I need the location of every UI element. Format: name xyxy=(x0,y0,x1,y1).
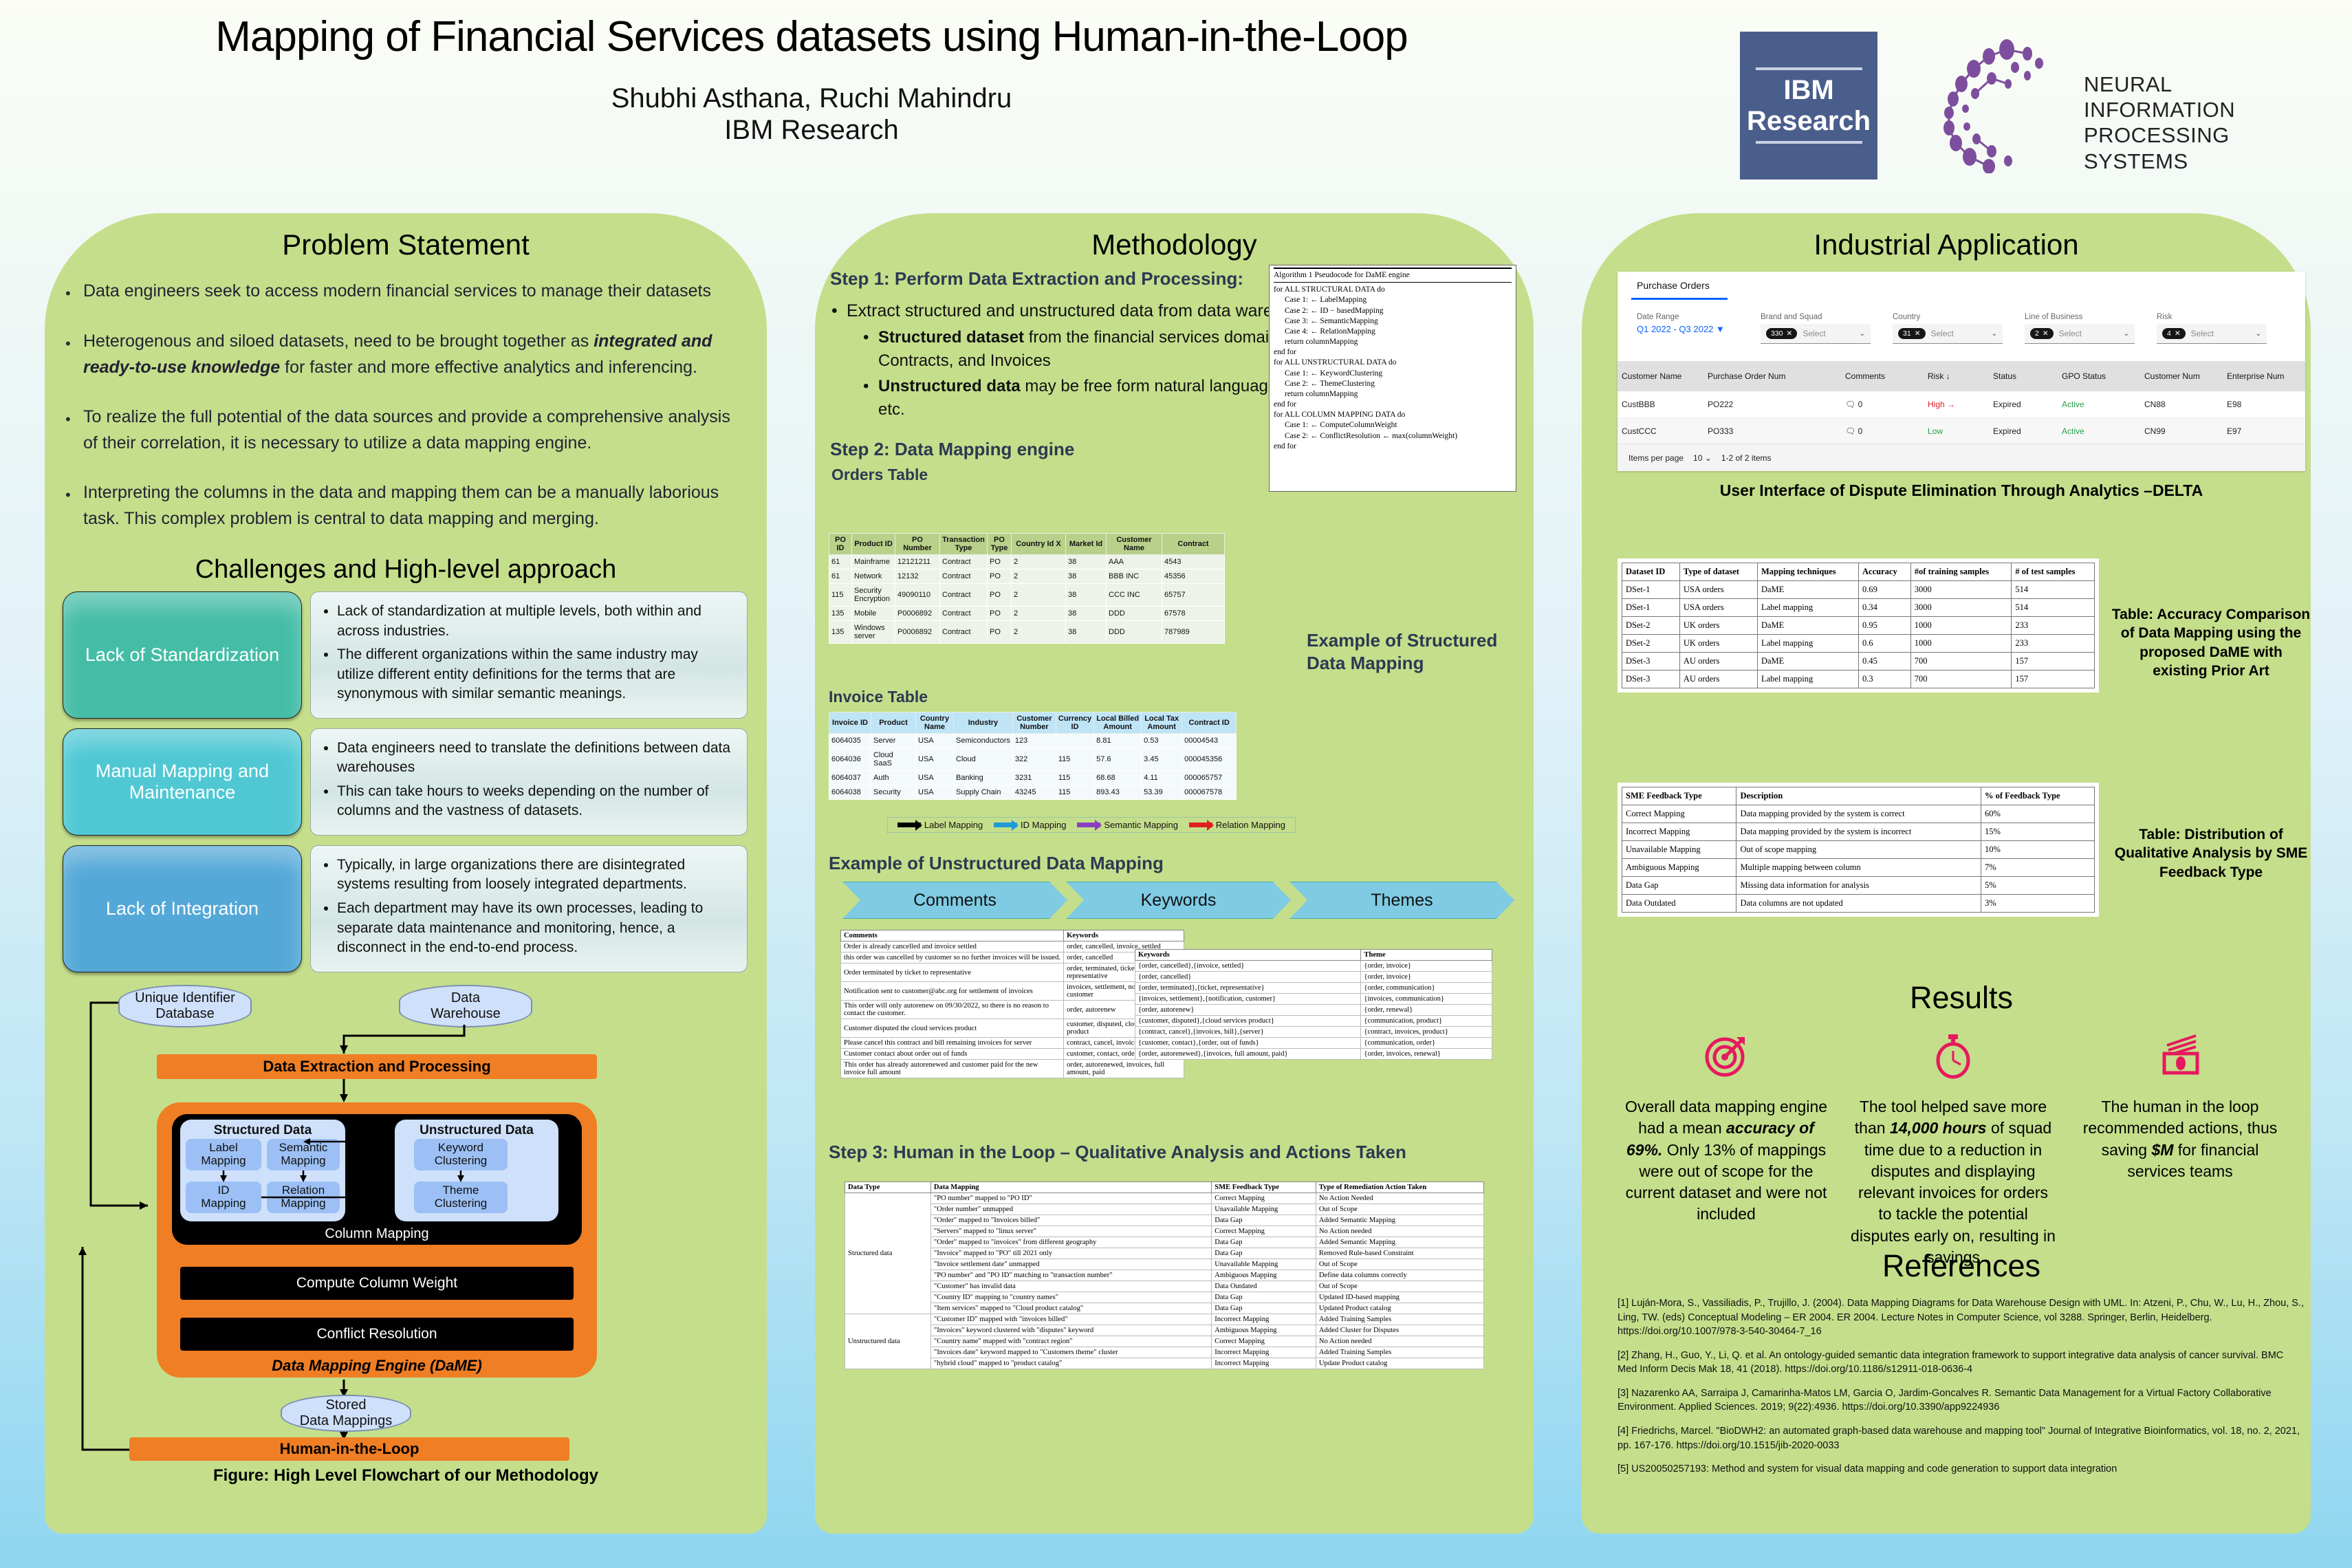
unstructured-pipeline-chevrons: CommentsKeywordsThemes xyxy=(842,882,1496,917)
selected-count-pill[interactable]: 31 ✕ xyxy=(1898,328,1926,339)
filter-control[interactable]: 2 ✕ Select ⌄ xyxy=(2025,324,2135,344)
table-cell: Data Gap xyxy=(1212,1303,1316,1314)
table-row: {order, autorenewed},{invoices, full amo… xyxy=(1135,1049,1492,1060)
table-cell: Incorrect Mapping xyxy=(1212,1314,1316,1325)
table-cell: 893.43 xyxy=(1094,785,1142,800)
table-cell: Unavailable Mapping xyxy=(1622,841,1736,859)
orders-table: PO IDProduct IDPO NumberTransaction Type… xyxy=(829,533,1225,644)
table-cell: 3.45 xyxy=(1142,748,1182,771)
table-row: "hybrid cloud" mapped to "product catalo… xyxy=(845,1358,1484,1369)
cell-enterprise-num: E98 xyxy=(2223,400,2305,409)
challenge-badge-2: Lack of Integration xyxy=(63,845,302,972)
table-row: DSet-1USA ordersDaME0.693000514 xyxy=(1622,581,2095,599)
table-cell: 2 xyxy=(1012,555,1066,569)
table-cell: Mainframe xyxy=(852,555,895,569)
table-row: Customer disputed the cloud services pro… xyxy=(841,1019,1184,1038)
table-cell: Missing data information for analysis xyxy=(1736,877,1981,895)
table-row: 6064036Cloud SaaSUSACloud32211557.63.450… xyxy=(829,748,1237,771)
table-cell: "Order number" unmapped xyxy=(930,1204,1211,1215)
chevron-down-icon[interactable]: ⌄ xyxy=(2256,330,2261,338)
table-cell: Correct Mapping xyxy=(1212,1226,1316,1237)
table-cell: 2 xyxy=(1012,607,1066,621)
table-cell: 000067578 xyxy=(1182,785,1237,800)
table-cell: Security xyxy=(871,785,916,800)
flow-node-stored-mappings: Stored Data Mappings xyxy=(281,1395,411,1432)
table-cell: {communication, order} xyxy=(1361,1038,1492,1049)
filter-control[interactable]: 31 ✕ Select ⌄ xyxy=(1893,324,2003,344)
table-cell: "PO number" mapped to "PO ID" xyxy=(930,1193,1211,1204)
bullet-dot: • xyxy=(65,278,83,305)
table-row: DSet-2UK ordersDaME0.951000233 xyxy=(1622,617,2095,635)
table-cell: Contract xyxy=(940,555,988,569)
table-cell: 6064035 xyxy=(829,734,871,748)
logo-rule-top xyxy=(1756,67,1862,70)
filter-risk[interactable]: Risk 4 ✕ Select ⌄ xyxy=(2157,313,2267,344)
algorithm-line: Case 1: ← KeywordClustering xyxy=(1274,369,1512,379)
column-header: Invoice ID xyxy=(829,712,871,734)
table-cell: {order, terminated},{ticket, representat… xyxy=(1135,983,1361,994)
filter-line-of-business[interactable]: Line of Business 2 ✕ Select ⌄ xyxy=(2025,313,2135,344)
table-cell: "Country name" mapped with "contract reg… xyxy=(930,1336,1211,1347)
column-header: Country Name xyxy=(916,712,954,734)
table-cell: {order, autorenewed},{invoices, full amo… xyxy=(1135,1049,1361,1060)
table-cell: "Item services" mapped to "Cloud product… xyxy=(930,1303,1211,1314)
table-header-row: PO IDProduct IDPO NumberTransaction Type… xyxy=(829,534,1225,555)
flow-node-theme-clustering: Theme Clustering xyxy=(414,1182,508,1213)
chevron-down-icon[interactable]: ⌄ xyxy=(2124,330,2129,338)
filter-control[interactable]: 330 ✕ Select ⌄ xyxy=(1761,324,1871,344)
algorithm-line: Case 1: ← LabelMapping xyxy=(1274,295,1512,305)
challenge-row: Lack of Integration Typically, in large … xyxy=(63,845,748,972)
flow-node-compute-column-weight: Compute Column Weight xyxy=(180,1267,574,1300)
table-cell: "Customer" has invalid data xyxy=(930,1281,1211,1292)
table-cell: 7% xyxy=(1981,859,2094,877)
column-header: Local Tax Amount xyxy=(1142,712,1182,734)
table-cell: Unavailable Mapping xyxy=(1212,1204,1316,1215)
table-cell: Data Outdated xyxy=(1622,895,1736,913)
table-cell: 5% xyxy=(1981,877,2094,895)
table-cell: 233 xyxy=(2012,617,2095,635)
invoice-table: Invoice IDProductCountry NameIndustryCus… xyxy=(829,712,1237,800)
reference-item: [4] Friedrichs, Marcel. "BioDWH2: an aut… xyxy=(1618,1424,2305,1452)
table-cell: DSet-3 xyxy=(1622,671,1680,688)
table-cell: This order has already autorenewed and c… xyxy=(841,1060,1064,1078)
table-cell: Network xyxy=(852,569,895,584)
cell-comments[interactable]: 🗨 0 xyxy=(1841,426,1924,436)
table-row: {order, terminated},{ticket, representat… xyxy=(1135,983,1492,994)
problem-bullet: • Data engineers seek to access modern f… xyxy=(65,278,749,305)
table-cell: AAA xyxy=(1107,555,1162,569)
bullet-dot: • xyxy=(65,404,83,456)
table-cell: Updated ID-based mapping xyxy=(1316,1292,1483,1303)
accuracy-comparison-table: Dataset IDType of datasetMapping techniq… xyxy=(1622,563,2095,688)
table-row: {customer, disputed},{cloud services pro… xyxy=(1135,1016,1492,1027)
result-card-0: Overall data mapping engine had a mean a… xyxy=(1623,1025,1829,1226)
close-icon[interactable]: ✕ xyxy=(1787,329,1793,338)
table-cell: 3000 xyxy=(1910,599,2012,617)
selected-count-pill[interactable]: 2 ✕ xyxy=(2030,328,2054,339)
step3-heading: Step 3: Human in the Loop – Qualitative … xyxy=(829,1142,1406,1163)
table-row: this order was cancelled by customer so … xyxy=(841,952,1184,963)
cell-risk: Low xyxy=(1924,426,1989,436)
close-icon[interactable]: ✕ xyxy=(2043,329,2049,338)
algorithm-line: Case 2: ← ConflictResolution ← max(colum… xyxy=(1274,431,1512,442)
challenge-point: This can take hours to weeks depending o… xyxy=(337,782,734,821)
table-cell: {invoices, communication} xyxy=(1361,994,1492,1005)
table-row: 135Windows serverP0006892ContractPO238DD… xyxy=(829,621,1225,644)
table-row: Customer contact about order out of fund… xyxy=(841,1049,1184,1060)
table-row: This order has already autorenewed and c… xyxy=(841,1060,1184,1078)
table-row: Please cancel this contract and bill rem… xyxy=(841,1038,1184,1049)
table-cell: {contract, cancel},{invoices, bill},{ser… xyxy=(1135,1027,1361,1038)
column-header[interactable]: Enterprise Num xyxy=(2223,371,2305,381)
author-names: Shubhi Asthana, Ruchi Mahindru xyxy=(62,83,1561,114)
table-cell: Incorrect Mapping xyxy=(1212,1358,1316,1369)
column-header[interactable]: Comments xyxy=(1841,371,1924,381)
column-header[interactable]: GPO Status xyxy=(2058,371,2140,381)
table-cell: "Servers" mapped to "linux server" xyxy=(930,1226,1211,1237)
cell-customer-num: CN99 xyxy=(2140,426,2223,436)
table-row: "Invoice settlement date" unmappedUnavai… xyxy=(845,1259,1484,1270)
comment-icon: 🗨 xyxy=(1845,400,1855,409)
table-cell: Data mapping provided by the system is i… xyxy=(1736,823,1981,841)
table-cell: 45356 xyxy=(1162,569,1225,584)
table-cell: Data Gap xyxy=(1622,877,1736,895)
table-cell: 00004543 xyxy=(1182,734,1237,748)
page-title: Mapping of Financial Services datasets u… xyxy=(62,12,1561,61)
keywords-themes-table-wrapper: KeywordsTheme{order, cancelled},{invoice… xyxy=(1135,949,1492,1060)
flow-node-data-extraction: Data Extraction and Processing xyxy=(157,1054,597,1079)
table-row: "Order" mapped to "Invoices billed"Data … xyxy=(845,1215,1484,1226)
table-cell: 67578 xyxy=(1162,607,1225,621)
close-icon[interactable]: ✕ xyxy=(1915,329,1921,338)
neurips-wordmark: NEURAL INFORMATION PROCESSING SYSTEMS xyxy=(2084,72,2311,174)
legend-label: Semantic Mapping xyxy=(1104,820,1178,830)
result-text: The tool helped save more than 14,000 ho… xyxy=(1850,1096,2056,1268)
table-row: "Customer" has invalid dataData Outdated… xyxy=(845,1281,1484,1292)
cell-status: Expired xyxy=(1989,400,2058,409)
table-cell: 60% xyxy=(1981,805,2094,823)
algorithm-lines: for ALL STRUCTURAL DATA doCase 1: ← Labe… xyxy=(1274,285,1512,452)
table-row: DSet-3AU ordersLabel mapping0.3700157 xyxy=(1622,671,2095,688)
step3-table: Data TypeData MappingSME Feedback TypeTy… xyxy=(845,1182,1484,1369)
algorithm-line: return columnMapping xyxy=(1274,337,1512,347)
table-cell: 000065757 xyxy=(1182,771,1237,785)
cell-po-num: PO222 xyxy=(1703,400,1841,409)
table-cell: Notification sent to customer@abc.org fo… xyxy=(841,982,1064,1001)
column-header[interactable]: Risk ↓ xyxy=(1924,371,1989,381)
problem-bullet-text: Heterogenous and siloed datasets, need t… xyxy=(83,328,749,380)
filter-label: Country xyxy=(1893,313,2003,321)
table-row: Data GapMissing data information for ana… xyxy=(1622,877,2095,895)
table-cell: {contract, invoices, product} xyxy=(1361,1027,1492,1038)
table-cell: 38 xyxy=(1066,621,1107,644)
table-cell: Semiconductors xyxy=(954,734,1013,748)
chevron-down-icon[interactable]: ⌄ xyxy=(1860,330,1865,338)
problem-bullet: • To realize the full potential of the d… xyxy=(65,404,749,456)
reference-item: [3] Nazarenko AA, Sarraipa J, Camarinha-… xyxy=(1618,1386,2305,1415)
table-row: Data OutdatedData columns are not update… xyxy=(1622,895,2095,913)
table-cell: 135 xyxy=(829,621,852,644)
flow-panel-unstructured-title: Unstructured Data xyxy=(395,1120,558,1138)
table-row: 6064035ServerUSASemiconductors1238.810.5… xyxy=(829,734,1237,748)
result-card-1: The tool helped save more than 14,000 ho… xyxy=(1850,1025,2056,1268)
table-row: Notification sent to customer@abc.org fo… xyxy=(841,982,1184,1001)
reference-item: [2] Zhang, H., Guo, Y., Li, Q. et al. An… xyxy=(1618,1349,2305,1377)
table-cell: Update Product catalog xyxy=(1316,1358,1483,1369)
challenge-point: Typically, in large organizations there … xyxy=(337,856,734,895)
table-cell: {order, renewal} xyxy=(1361,1005,1492,1016)
column-header: Local Billed Amount xyxy=(1094,712,1142,734)
column-header: Theme xyxy=(1361,950,1492,961)
table-cell: 157 xyxy=(2012,671,2095,688)
table-cell: Incorrect Mapping xyxy=(1212,1347,1316,1358)
column-header: Mapping techniques xyxy=(1757,563,1858,581)
target-icon xyxy=(1623,1025,1829,1087)
table-cell: 700 xyxy=(1910,671,2012,688)
table-cell: Added Cluster for Disputes xyxy=(1316,1325,1483,1336)
table-cell: 0.53 xyxy=(1142,734,1182,748)
table-cell: 3231 xyxy=(1012,771,1056,785)
table-row: DSet-3AU ordersDaME0.45700157 xyxy=(1622,653,2095,671)
table-cell: "Order" mapped to "Invoices billed" xyxy=(930,1215,1211,1226)
filter-control[interactable]: 4 ✕ Select ⌄ xyxy=(2157,324,2267,344)
table-cell: P0006892 xyxy=(895,607,940,621)
table-row: "PO number" and "PO ID" matching to "tra… xyxy=(845,1270,1484,1281)
table-cell: USA xyxy=(916,748,954,771)
section-title-methodology: Methodology xyxy=(815,213,1534,261)
table-header-row: Data TypeData MappingSME Feedback TypeTy… xyxy=(845,1182,1484,1193)
table-cell: Out of Scope xyxy=(1316,1204,1483,1215)
filter-country[interactable]: Country 31 ✕ Select ⌄ xyxy=(1893,313,2003,344)
filter-placeholder: Select xyxy=(2191,329,2250,338)
chevron-down-icon: ⌄ xyxy=(1705,453,1712,463)
table-cell: No Action Needed xyxy=(1316,1193,1483,1204)
arrow-icon xyxy=(1077,823,1100,827)
comment-icon: 🗨 xyxy=(1845,426,1855,436)
table-cell: 49090110 xyxy=(895,584,940,607)
table-header-row: KeywordsTheme xyxy=(1135,950,1492,961)
table-cell: Contract xyxy=(940,584,988,607)
table-cell: Out of scope mapping xyxy=(1736,841,1981,859)
table-cell: Mobile xyxy=(852,607,895,621)
table-cell: {customer, contact},{order, out of funds… xyxy=(1135,1038,1361,1049)
table-cell: USA xyxy=(916,771,954,785)
table-cell: DSet-2 xyxy=(1622,635,1680,653)
table-cell: PO xyxy=(988,607,1012,621)
table-cell: {communication, product} xyxy=(1361,1016,1492,1027)
table-cell: Supply Chain xyxy=(954,785,1013,800)
table-cell: Label mapping xyxy=(1757,671,1858,688)
table-header-row: SME Feedback TypeDescription% of Feedbac… xyxy=(1622,787,2095,805)
tab-purchase-orders[interactable]: Purchase Orders xyxy=(1637,280,1710,291)
table-cell: CCC INC xyxy=(1107,584,1162,607)
column-header: Product xyxy=(871,712,916,734)
table-cell: Incorrect Mapping xyxy=(1622,823,1736,841)
table-cell: Correct Mapping xyxy=(1212,1336,1316,1347)
poster-root: Mapping of Financial Services datasets u… xyxy=(0,0,2352,1568)
flow-node-unique-identifier-db: Unique Identifier Database xyxy=(118,985,252,1027)
filter-label: Line of Business xyxy=(2025,313,2135,321)
bullet-dot: • xyxy=(831,299,847,323)
algorithm-pseudocode-box: Algorithm 1 Pseudocode for DaME engine f… xyxy=(1269,265,1516,492)
column-header: Product ID xyxy=(852,534,895,555)
algorithm-line: Case 2: ← ID − basedMapping xyxy=(1274,306,1512,316)
table-row: "Item services" mapped to "Cloud product… xyxy=(845,1303,1484,1314)
table-cell: Removed Rule-based Constraint xyxy=(1316,1248,1483,1259)
selected-count-pill[interactable]: 330 ✕ xyxy=(1766,328,1797,339)
table-cell: 6064036 xyxy=(829,748,871,771)
mapping-legend: Label Mapping ID Mapping Semantic Mappin… xyxy=(887,817,1296,833)
table-row: Order is already cancelled and invoice s… xyxy=(841,941,1184,952)
cell-comments[interactable]: 🗨 0 xyxy=(1841,400,1924,409)
neurips-line1: NEURAL INFORMATION xyxy=(2084,72,2311,122)
table-cell: Data Gap xyxy=(1212,1248,1316,1259)
problem-bullet-text: Data engineers seek to access modern fin… xyxy=(83,278,711,305)
challenge-badge-1: Manual Mapping and Maintenance xyxy=(63,728,302,836)
table-cell: 2 xyxy=(1012,569,1066,584)
filter-label: Brand and Squad xyxy=(1761,313,1871,321)
column-header[interactable]: Customer Num xyxy=(2140,371,2223,381)
filter-date-range[interactable]: Date Range Q1 2022 - Q3 2022 ▼ xyxy=(1637,313,1725,334)
table-cell: BBB INC xyxy=(1107,569,1162,584)
algorithm-line: for ALL STRUCTURAL DATA do xyxy=(1274,285,1512,295)
table-cell: Contract xyxy=(940,569,988,584)
table-cell: 1000 xyxy=(1910,617,2012,635)
table-row: {invoices, settlement},{notification, cu… xyxy=(1135,994,1492,1005)
table-row[interactable]: CustCCC PO333 🗨 0 Low Expired Active CN9… xyxy=(1618,418,2305,445)
algorithm-line: end for xyxy=(1274,442,1512,452)
table-cell: Cloud SaaS xyxy=(871,748,916,771)
table-body: CustBBB PO222 🗨 0 High → Expired Active … xyxy=(1618,391,2305,445)
table-cell: DSet-2 xyxy=(1622,617,1680,635)
column-header: SME Feedback Type xyxy=(1212,1182,1316,1193)
poster-header: Mapping of Financial Services datasets u… xyxy=(0,0,2352,206)
table-cell: DaME xyxy=(1757,653,1858,671)
table-cell: 0.3 xyxy=(1859,671,1911,688)
table-cell: 123 xyxy=(1012,734,1056,748)
table-row: 135MobileP0006892ContractPO238DDD67578 xyxy=(829,607,1225,621)
author-block: Shubhi Asthana, Ruchi Mahindru IBM Resea… xyxy=(62,83,1561,146)
column-header: Data Mapping xyxy=(930,1182,1211,1193)
neurips-dots-icon xyxy=(1926,36,2084,173)
result-card-2: The human in the loop recommended action… xyxy=(2077,1025,2283,1182)
table-cell: this order was cancelled by customer so … xyxy=(841,952,1064,963)
table-cell: 15% xyxy=(1981,823,2094,841)
chevron-down-icon[interactable]: ⌄ xyxy=(1992,330,1997,338)
table-cell: Out of Scope xyxy=(1316,1281,1483,1292)
filter-value[interactable]: Q1 2022 - Q3 2022 ▼ xyxy=(1637,324,1725,334)
algorithm-line: return columnMapping xyxy=(1274,389,1512,400)
table-cell: Label mapping xyxy=(1757,599,1858,617)
flow-node-keyword-clustering: Keyword Clustering xyxy=(414,1139,508,1170)
table-cell: DSet-3 xyxy=(1622,653,1680,671)
cell-customer-num: CN88 xyxy=(2140,400,2223,409)
column-header[interactable]: Status xyxy=(1989,371,2058,381)
table-cell: "Country ID" mapping to "country names" xyxy=(930,1292,1211,1303)
stopwatch-icon xyxy=(1850,1025,2056,1087)
table-row: DSet-2UK ordersLabel mapping0.61000233 xyxy=(1622,635,2095,653)
legend-label: Label Mapping xyxy=(924,820,983,830)
table-cell: {order, cancelled},{invoice, settled} xyxy=(1135,961,1361,972)
table-cell: 322 xyxy=(1012,748,1056,771)
table-cell: This order will only autorenew on 09/30/… xyxy=(841,1001,1064,1019)
filter-label: Date Range xyxy=(1637,313,1725,321)
column-header: SME Feedback Type xyxy=(1622,787,1736,805)
bullet-dot: • xyxy=(65,479,83,532)
result-text: Overall data mapping engine had a mean a… xyxy=(1623,1096,1829,1226)
table-cell: 2 xyxy=(1012,621,1066,644)
flow-label-dame: Data Mapping Engine (DaME) xyxy=(157,1357,597,1375)
cell-po-num: PO333 xyxy=(1703,426,1841,436)
table-cell: 61 xyxy=(829,555,852,569)
legend-item: Relation Mapping xyxy=(1189,820,1285,830)
table-cell: Auth xyxy=(871,771,916,785)
table-cell: Unavailable Mapping xyxy=(1212,1259,1316,1270)
table-cell: USA orders xyxy=(1679,599,1757,617)
table-cell: 12121211 xyxy=(895,555,940,569)
pipeline-step-2: Themes xyxy=(1289,882,1514,919)
table-cell: Data mapping provided by the system is c… xyxy=(1736,805,1981,823)
table-cell: DSet-1 xyxy=(1622,581,1680,599)
delta-ui-screenshot: Purchase Orders Date Range Q1 2022 - Q3 … xyxy=(1618,272,2305,471)
items-per-page-select[interactable]: 10 ⌄ xyxy=(1693,453,1712,463)
filter-label: Risk xyxy=(2157,313,2267,321)
algorithm-line: end for xyxy=(1274,400,1512,410)
bullet-dot: • xyxy=(863,375,878,421)
table-cell: DDD xyxy=(1107,607,1162,621)
column-header[interactable]: Purchase Order Num xyxy=(1703,371,1841,381)
table-cell: 1000 xyxy=(1910,635,2012,653)
table-cell: 0.34 xyxy=(1859,599,1911,617)
algorithm-line: Case 4: ← RelationMapping xyxy=(1274,327,1512,337)
table-cell: USA orders xyxy=(1679,581,1757,599)
table-cell: 787989 xyxy=(1162,621,1225,644)
table-row[interactable]: CustBBB PO222 🗨 0 High → Expired Active … xyxy=(1618,391,2305,418)
cell-enterprise-num: E97 xyxy=(2223,426,2305,436)
table-cell: AU orders xyxy=(1679,653,1757,671)
table-cell: {invoices, settlement},{notification, cu… xyxy=(1135,994,1361,1005)
challenge-points-1: Data engineers need to translate the def… xyxy=(310,728,748,836)
column-header: Data Type xyxy=(845,1182,931,1193)
table-cell: 0.69 xyxy=(1859,581,1911,599)
table-row: "Invoices" keyword clustered with "dispu… xyxy=(845,1325,1484,1336)
methodology-flowchart: Unique Identifier Database Data Warehous… xyxy=(76,982,736,1463)
column-header: Industry xyxy=(954,712,1013,734)
table-cell: order, autorenewed, invoices, full amoun… xyxy=(1064,1060,1184,1078)
table-cell: 233 xyxy=(2012,635,2095,653)
table-cell: 6064038 xyxy=(829,785,871,800)
table-row: "Order" mapped to "invoices" from differ… xyxy=(845,1237,1484,1248)
comments-keywords-table: CommentsKeywordsOrder is already cancell… xyxy=(840,930,1184,1078)
column-header[interactable]: Customer Name xyxy=(1618,371,1703,381)
selected-count-pill[interactable]: 4 ✕ xyxy=(2162,328,2186,339)
column-header: Type of dataset xyxy=(1679,563,1757,581)
logo-rule-bottom xyxy=(1756,141,1862,144)
filter-brand-and-squad[interactable]: Brand and Squad 330 ✕ Select ⌄ xyxy=(1761,313,1871,344)
pagination-status: 1-2 of 2 items xyxy=(1721,453,1772,463)
close-icon[interactable]: ✕ xyxy=(2175,329,2181,338)
flow-panel-structured-title: Structured Data xyxy=(180,1120,345,1138)
table-cell: USA xyxy=(916,734,954,748)
column-header: Country Id X xyxy=(1012,534,1066,555)
table-cell: Added Semantic Mapping xyxy=(1316,1215,1483,1226)
table-cell: 61 xyxy=(829,569,852,584)
table-row: Correct MappingData mapping provided by … xyxy=(1622,805,2095,823)
result-text: The human in the loop recommended action… xyxy=(2077,1096,2283,1182)
accuracy-table-wrapper: Dataset IDType of datasetMapping techniq… xyxy=(1618,558,2099,693)
table-cell: Security Encryption xyxy=(852,584,895,607)
